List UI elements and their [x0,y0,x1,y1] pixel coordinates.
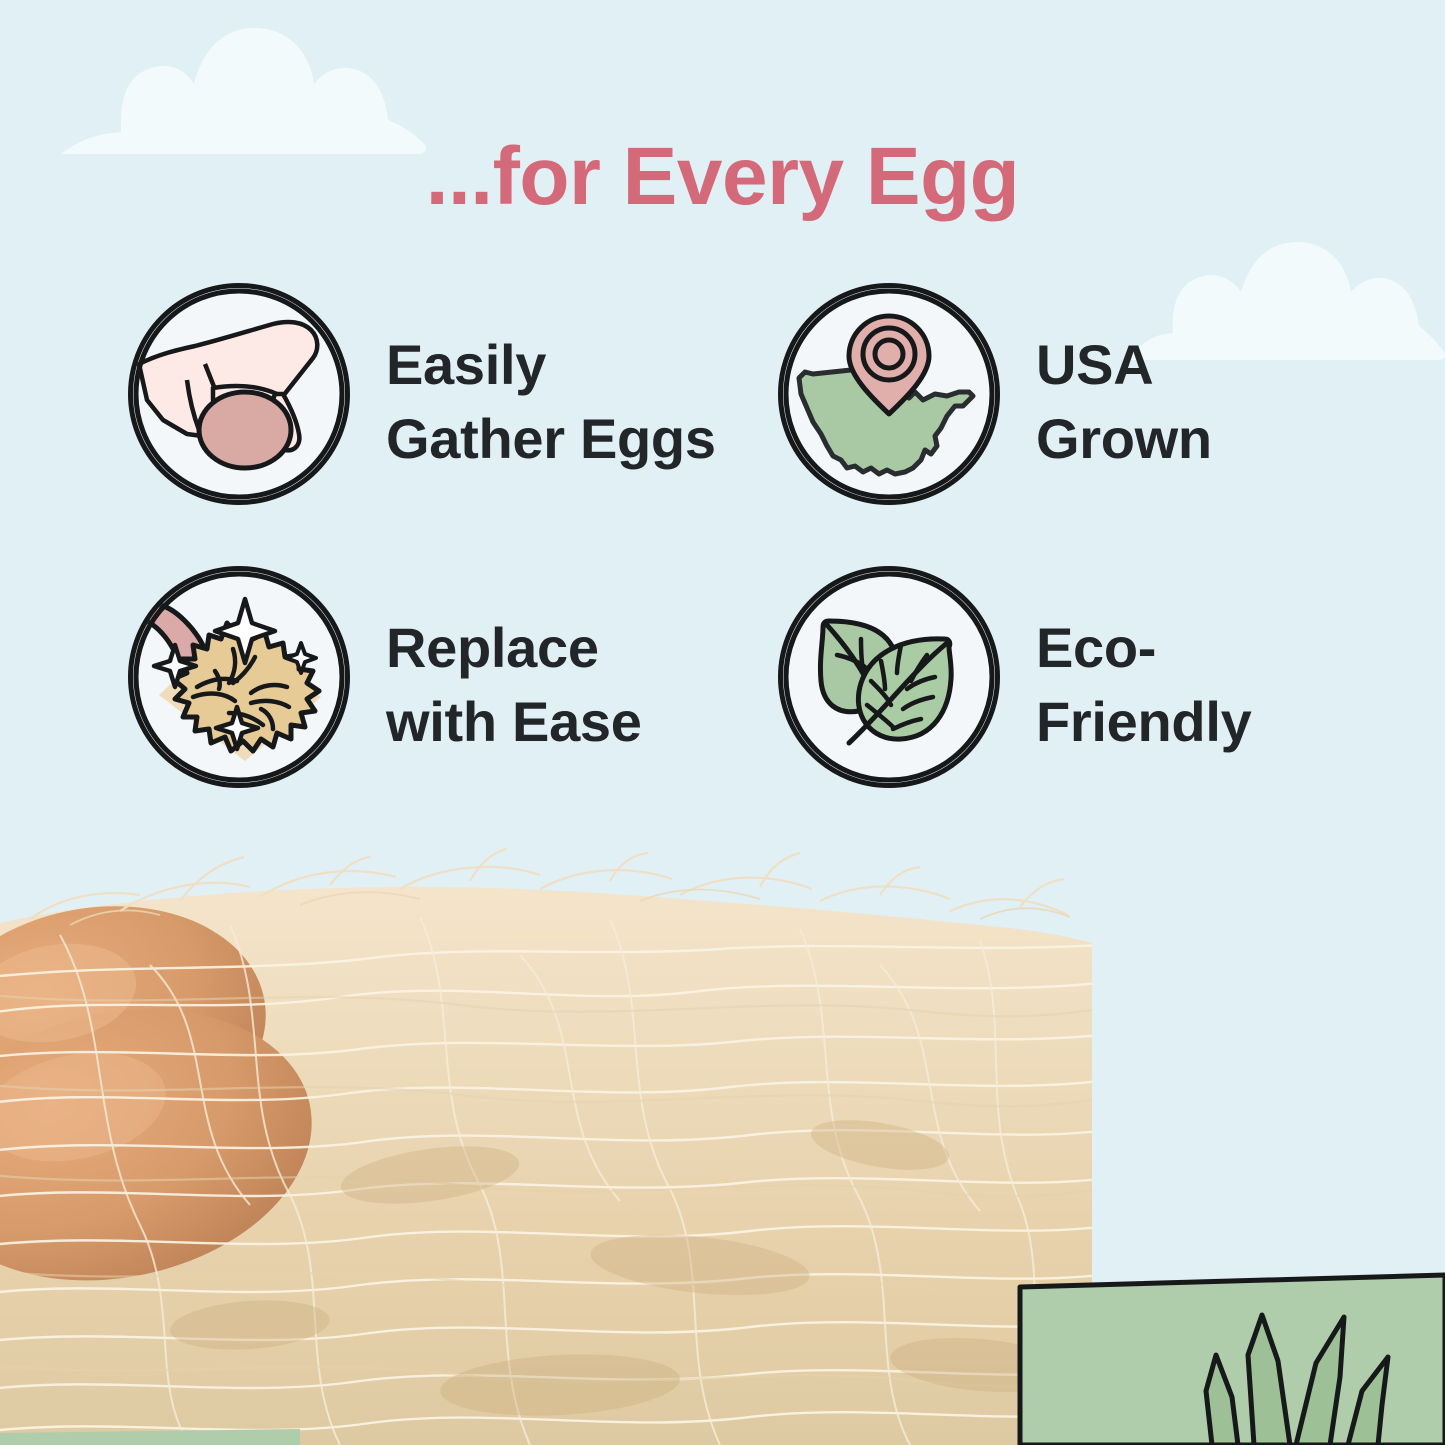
feature-grid: Easily Gather Eggs USA Grown [128,283,1418,849]
feature-label: Eco- Friendly [1036,566,1251,759]
feature-label: Replace with Ease [386,566,642,759]
hand-placing-nesting-pad-icon [128,566,350,788]
feature-label: USA Grown [1036,283,1212,476]
feature-item-eco-friendly[interactable]: Eco- Friendly [778,566,1418,849]
feature-item-easily-gather-eggs[interactable]: Easily Gather Eggs [128,283,768,566]
feature-label: Easily Gather Eggs [386,283,716,476]
brown-eggs-in-excelsior-nest-photo [0,845,1445,1445]
hand-gathering-egg-icon [128,283,350,505]
usa-map-pin-icon [778,283,1000,505]
feature-item-usa-grown[interactable]: USA Grown [778,283,1418,566]
leaves-icon [778,566,1000,788]
promo-infographic: ...for Every Egg [0,0,1445,1445]
feature-item-replace-with-ease[interactable]: Replace with Ease [128,566,768,849]
page-title: ...for Every Egg [0,134,1445,220]
